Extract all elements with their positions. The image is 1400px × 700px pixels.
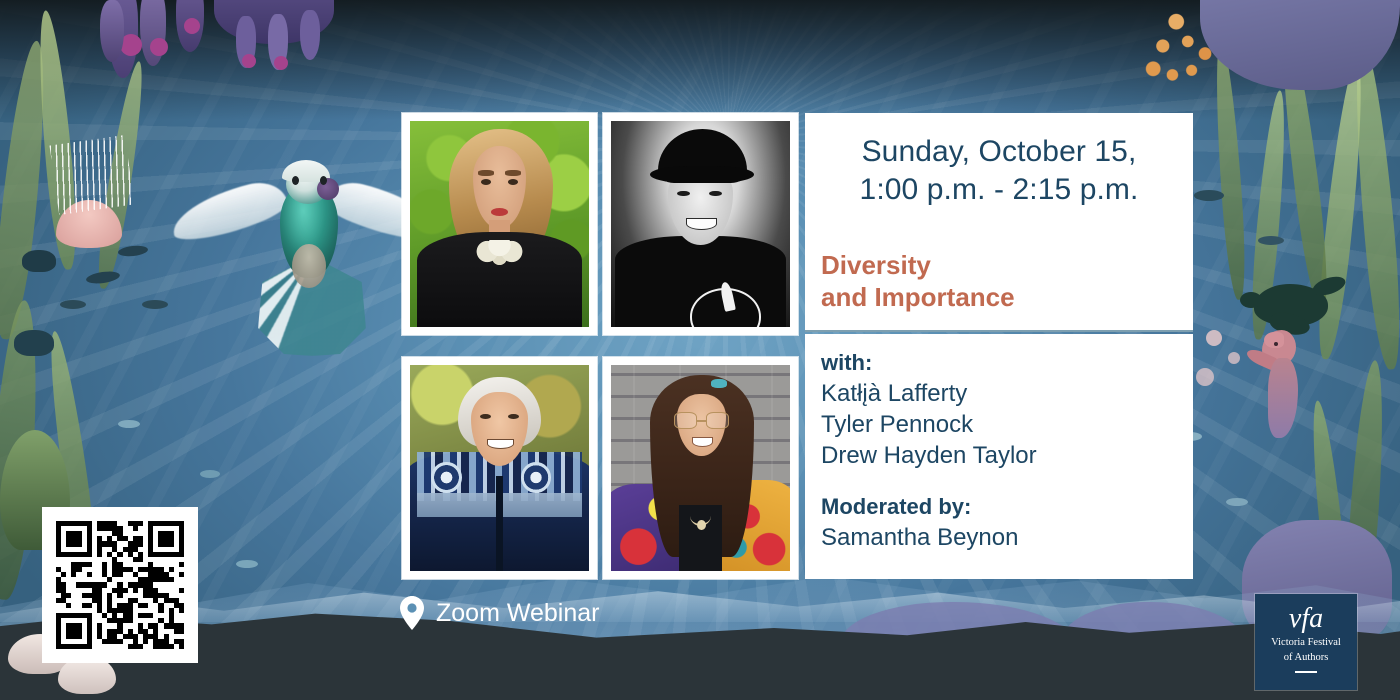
smile [686,218,716,230]
event-title-line-2: and Importance [821,281,1015,313]
portrait-4-frame [603,357,798,579]
eye [481,179,492,185]
glasses-icon [674,412,729,428]
portrait-2-frame [603,113,798,335]
bubble [1206,330,1222,346]
fish [142,300,168,309]
shirt-medallion [431,462,461,493]
participant-name: Tyler Pennock [821,409,1037,440]
hummingbird-belly [292,244,326,288]
fish [60,300,86,309]
anemone-tube [100,0,124,62]
bubble [1196,368,1214,386]
hair-clip [711,379,727,387]
vfa-monogram: vfa [1255,604,1357,634]
lips [491,208,509,216]
event-date: Sunday, October 15, [805,133,1193,171]
seahorse-icon [1244,330,1318,450]
speaker-photo-grid [402,113,798,579]
anemone-tube [184,18,200,34]
shirt-medallion [521,462,551,493]
event-time: 1:00 p.m. - 2:15 p.m. [805,171,1193,209]
panel-divider [805,330,1193,332]
participant-name: Drew Hayden Taylor [821,440,1037,471]
location-pin-icon [400,596,424,630]
cap-brim [650,166,754,182]
portrait-3-photo [410,365,589,571]
fish [118,420,140,428]
portrait-2-photo [611,121,790,327]
vfa-rule [1295,671,1317,673]
bubble [1228,352,1240,364]
moderator-label: Moderated by: [821,494,971,520]
participant-list: Katłįà Lafferty Tyler Pennock Drew Hayde… [821,378,1037,471]
venue-row: Zoom Webinar [400,593,600,633]
anemone-mouth [242,54,256,68]
fish [236,560,258,568]
fish [200,470,220,478]
qr-code-card[interactable] [42,507,198,663]
event-title-line-1: Diversity [821,249,1015,281]
event-poster: Sunday, October 15, 1:00 p.m. - 2:15 p.m… [0,0,1400,700]
participants-panel: with: Katłįà Lafferty Tyler Pennock Drew… [805,334,1193,579]
portrait-1-frame [402,113,597,335]
hummingbird [196,152,424,360]
fish [1258,236,1284,245]
vfa-logo[interactable]: vfa Victoria Festival of Authors [1255,594,1357,690]
event-details-panel: Sunday, October 15, 1:00 p.m. - 2:15 p.m… [805,113,1193,330]
event-title: Diversity and Importance [821,249,1015,313]
fish [1194,190,1224,201]
eye [508,179,519,185]
event-datetime: Sunday, October 15, 1:00 p.m. - 2:15 p.m… [805,133,1193,209]
eyebrow [478,170,494,175]
venue-label: Zoom Webinar [436,599,600,628]
fish [1226,498,1248,506]
vfa-org-line-1: Victoria Festival [1255,636,1357,649]
sea-turtle-icon [1240,276,1348,334]
anemone-tube [300,10,320,60]
hummingbird-eye [320,176,327,185]
with-label: with: [821,350,872,376]
crab [14,330,54,356]
qr-code[interactable] [56,521,184,649]
portrait-3-frame [402,357,597,579]
portrait-4-photo [611,365,790,571]
rock-silhouette [0,610,1400,700]
moderator-name: Samantha Beynon [821,522,1018,553]
portrait-1-photo [410,121,589,327]
crab [22,250,56,272]
anemone-mouth [274,56,288,70]
anemone-tube [150,38,168,56]
shirt-placket [496,476,503,571]
pendant [697,520,706,530]
hummingbird-eye [292,176,299,185]
vfa-org-line-2: of Authors [1255,651,1357,664]
participant-name: Katłįà Lafferty [821,378,1037,409]
necklace [474,240,524,265]
jellyfish-tentacles [49,135,134,215]
eyebrow [505,170,521,175]
